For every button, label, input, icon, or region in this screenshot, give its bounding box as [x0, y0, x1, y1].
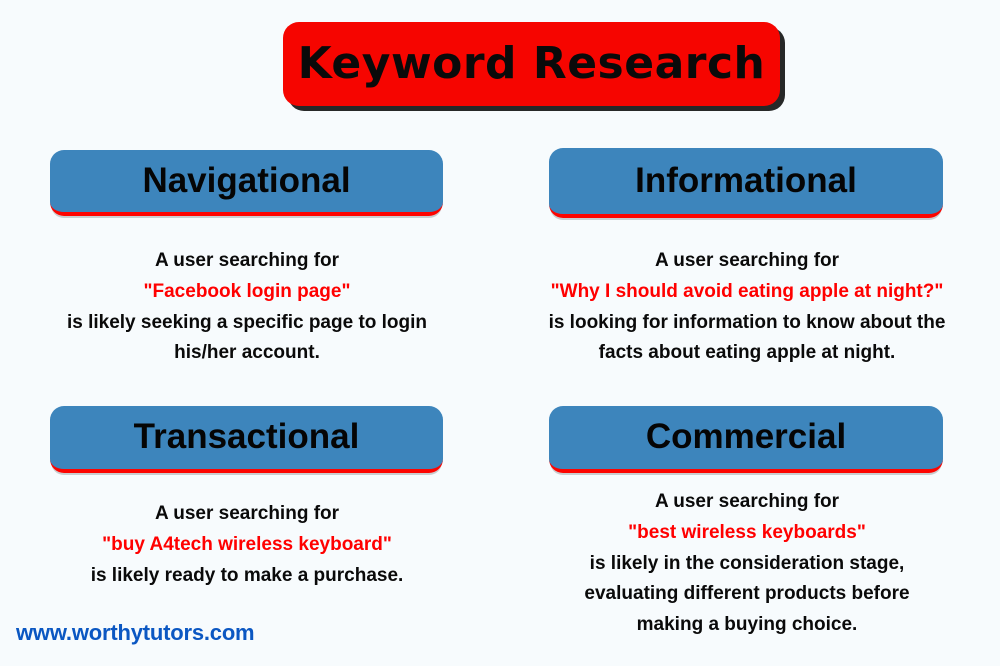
- category-header-informational: Informational: [549, 148, 943, 218]
- description-line: A user searching for: [547, 487, 947, 518]
- category-header-commercial: Commercial: [549, 406, 943, 473]
- description-line: A user searching for: [46, 246, 448, 277]
- description-line: is looking for information to know about…: [519, 308, 975, 339]
- description-line: is likely in the consideration stage,: [547, 549, 947, 580]
- description-line: "buy A4tech wireless keyboard": [46, 530, 448, 561]
- category-label-navigational: Navigational: [142, 163, 350, 198]
- description-line: "Facebook login page": [46, 277, 448, 308]
- description-line: evaluating different products before: [547, 579, 947, 610]
- description-line: "best wireless keyboards": [547, 518, 947, 549]
- description-line: is likely seeking a specific page to log…: [46, 308, 448, 339]
- site-watermark: www.worthytutors.com: [16, 620, 254, 646]
- category-description-transactional: A user searching for"buy A4tech wireless…: [46, 499, 448, 591]
- description-line: is likely ready to make a purchase.: [46, 561, 448, 592]
- category-description-commercial: A user searching for"best wireless keybo…: [547, 487, 947, 641]
- category-label-transactional: Transactional: [134, 419, 360, 454]
- description-line: A user searching for: [519, 246, 975, 277]
- category-header-navigational: Navigational: [50, 150, 443, 216]
- description-line: facts about eating apple at night.: [519, 338, 975, 369]
- description-line: making a buying choice.: [547, 610, 947, 641]
- category-header-transactional: Transactional: [50, 406, 443, 473]
- description-line: "Why I should avoid eating apple at nigh…: [519, 277, 975, 308]
- category-description-informational: A user searching for"Why I should avoid …: [519, 246, 975, 369]
- description-line: A user searching for: [46, 499, 448, 530]
- page-title: Keyword Research: [298, 42, 766, 86]
- title-banner: Keyword Research: [283, 22, 780, 106]
- category-label-informational: Informational: [635, 163, 857, 198]
- category-description-navigational: A user searching for"Facebook login page…: [46, 246, 448, 369]
- description-line: his/her account.: [46, 338, 448, 369]
- category-label-commercial: Commercial: [646, 419, 846, 454]
- infographic-canvas: Keyword Research Navigational A user sea…: [0, 0, 1000, 666]
